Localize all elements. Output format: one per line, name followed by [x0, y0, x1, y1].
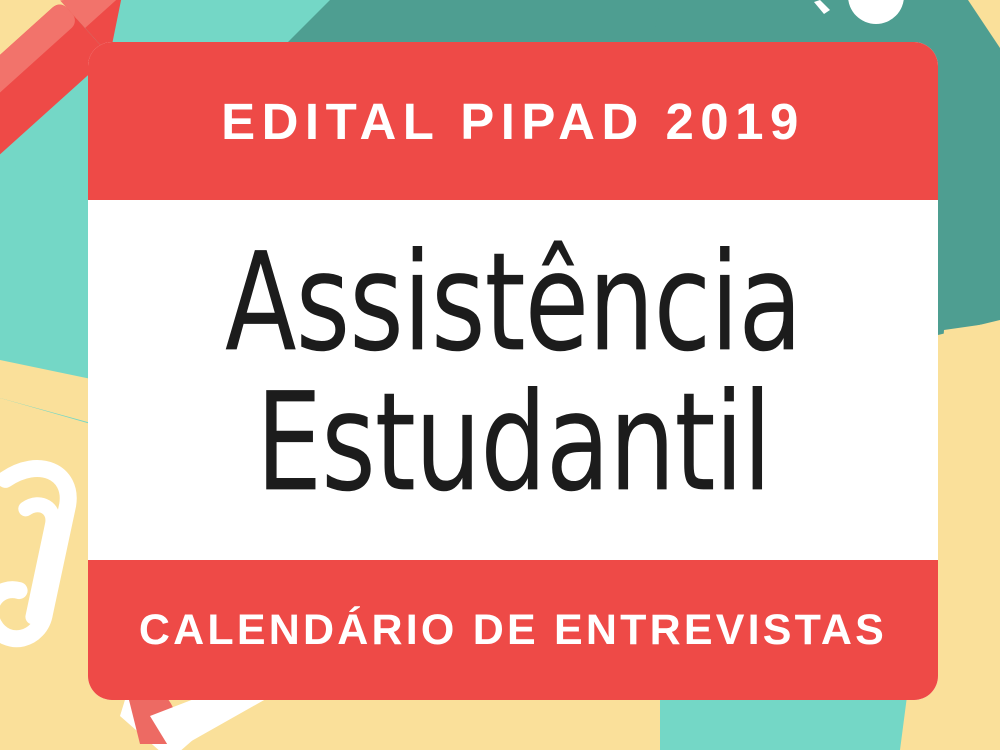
poster-card: EDITAL PIPAD 2019 Assistência Estudantil…	[88, 42, 938, 700]
poster-canvas: EDITAL PIPAD 2019 Assistência Estudantil…	[0, 0, 1000, 750]
title-line-1: Assistência	[225, 235, 802, 374]
card-header-band: EDITAL PIPAD 2019	[88, 42, 938, 200]
header-title: EDITAL PIPAD 2019	[221, 96, 805, 147]
card-body: Assistência Estudantil	[88, 200, 938, 560]
footer-subtitle: CALENDÁRIO DE ENTREVISTAS	[139, 609, 887, 652]
card-footer-band: CALENDÁRIO DE ENTREVISTAS	[88, 560, 938, 700]
title-line-2: Estudantil	[256, 375, 771, 514]
